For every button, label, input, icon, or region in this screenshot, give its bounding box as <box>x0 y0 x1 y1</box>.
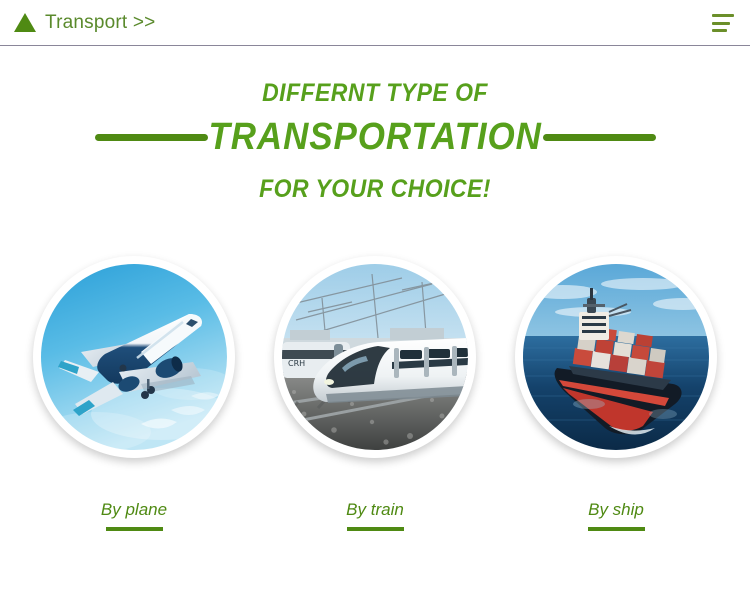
ship-illustration <box>523 264 709 450</box>
card-label-rule-ship <box>588 527 645 531</box>
transportation-page: Transport >> DIFFERNT TYPE OF TRANSPORTA… <box>0 0 750 589</box>
heading-rule-left <box>95 134 208 141</box>
hamburger-line-3 <box>712 29 727 32</box>
train-circle-frame[interactable]: CRH <box>274 256 476 458</box>
hamburger-menu-icon[interactable] <box>712 14 734 32</box>
ship-circle-frame[interactable] <box>515 256 717 458</box>
brand[interactable]: Transport >> <box>14 12 155 34</box>
site-header: Transport >> <box>0 0 750 46</box>
heading-line-3: FOR YOUR CHOICE! <box>30 174 720 204</box>
svg-text:CRH: CRH <box>288 359 305 368</box>
heading-block: DIFFERNT TYPE OF TRANSPORTATION FOR YOUR… <box>0 78 750 204</box>
train-illustration: CRH <box>282 264 468 450</box>
transport-card-train[interactable]: CRH <box>274 256 476 531</box>
transport-card-ship[interactable]: By ship <box>515 256 717 531</box>
heading-line-1: DIFFERNT TYPE OF <box>30 78 720 108</box>
card-label-rule-plane <box>106 527 163 531</box>
high-speed-train-photo: CRH <box>282 264 468 450</box>
transport-card-list: By plane <box>0 256 750 531</box>
airplane-illustration <box>41 264 227 450</box>
brand-label: Transport >> <box>45 12 155 34</box>
heading-line-2: TRANSPORTATION <box>208 115 541 159</box>
plane-circle-frame[interactable] <box>33 256 235 458</box>
heading-rule-right <box>543 134 656 141</box>
heading-middle-row: TRANSPORTATION <box>0 114 750 160</box>
card-label-rule-train <box>347 527 404 531</box>
card-label-plane: By plane <box>101 500 167 520</box>
airplane-photo <box>41 264 227 450</box>
card-label-train: By train <box>346 500 404 520</box>
hamburger-line-2 <box>712 22 730 25</box>
transport-card-plane[interactable]: By plane <box>33 256 235 531</box>
hamburger-line-1 <box>712 14 734 17</box>
container-ship-photo <box>523 264 709 450</box>
card-label-ship: By ship <box>588 500 644 520</box>
triangle-up-icon <box>14 13 36 32</box>
